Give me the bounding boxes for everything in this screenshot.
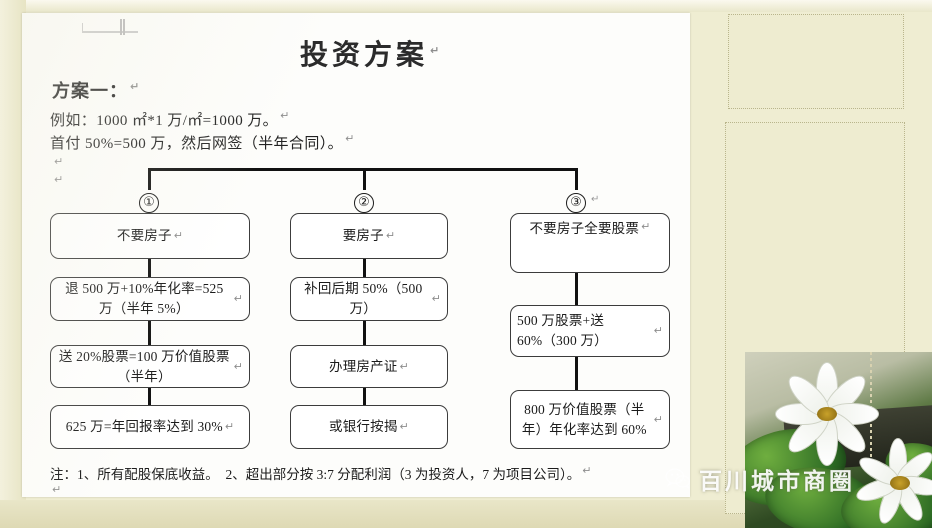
pilcrow-mark: ↵ [432, 291, 441, 307]
pilcrow-mark: ↵ [54, 155, 63, 168]
trunk-connector-drop-2 [363, 168, 366, 190]
branch-number-3: ③ [566, 193, 586, 213]
pilcrow-mark: ↵ [582, 464, 591, 477]
example-line-two: 首付 50%=500 万，然后网签（半年合同）。↵ [50, 132, 355, 153]
pilcrow-mark: ↵ [234, 359, 243, 375]
flow-box-label: 送 20%股票=100 万价值股票（半年） [57, 347, 232, 386]
screenshot-stage: 投资方案↵ 方案一：↵ 例如：1000 ㎡*1 万/㎡=1000 万。↵ 首付 … [0, 0, 932, 528]
watermark: 百川城市商圈 [665, 462, 855, 496]
page-corner-mark [82, 23, 138, 33]
pilcrow-mark: ↵ [641, 219, 650, 235]
flow-box-branch3-step3[interactable]: 800 万价值股票（半年）年化率达到 60%↵ [510, 390, 670, 449]
page-title-text: 投资方案 [300, 40, 428, 71]
flow-box-label: 不要房子 [117, 226, 172, 246]
flow-box-label: 要房子 [343, 226, 384, 246]
flow-box-branch2-step3[interactable]: 办理房产证↵ [290, 345, 448, 388]
flow-box-label: 补回后期 50%（500 万） [297, 279, 430, 318]
page-corner-mark-secondary [120, 19, 125, 35]
flow-box-branch3-step1[interactable]: 不要房子全要股票↵ [510, 213, 670, 273]
pilcrow-mark: ↵ [430, 44, 443, 57]
plan-label-text: 方案一： [52, 81, 128, 101]
flow-box-branch1-step1[interactable]: 不要房子↵ [50, 213, 250, 259]
flow-box-branch1-step4[interactable]: 625 万=年回报率达到 30%↵ [50, 405, 250, 449]
lotus-flower [779, 366, 875, 462]
flow-box-branch2-step2[interactable]: 补回后期 50%（500 万）↵ [290, 277, 448, 321]
link-branch2-3-4 [363, 388, 366, 405]
link-branch1-2-3 [148, 321, 151, 345]
flow-box-label: 办理房产证 [329, 357, 398, 377]
example-line-two-text: 首付 50%=500 万，然后网签（半年合同）。 [50, 136, 343, 152]
link-branch3-1-2 [575, 273, 578, 305]
flow-box-label: 退 500 万+10%年化率=525 万（半年 5%） [57, 279, 232, 318]
flow-box-branch2-step4[interactable]: 或银行按揭↵ [290, 405, 448, 449]
trunk-connector-drop-3 [575, 168, 578, 190]
pilcrow-mark: ↵ [591, 194, 599, 205]
pilcrow-mark: ↵ [386, 228, 395, 244]
background-top-band [0, 0, 932, 12]
link-branch3-2-3 [575, 357, 578, 390]
pilcrow-mark: ↵ [52, 483, 61, 496]
wechat-icon [665, 468, 691, 490]
watermark-text: 百川城市商圈 [699, 462, 855, 496]
flow-box-branch2-step1[interactable]: 要房子↵ [290, 213, 448, 259]
flow-box-label: 625 万=年回报率达到 30% [66, 417, 223, 437]
link-branch2-2-3 [363, 321, 366, 345]
example-line-one: 例如：1000 ㎡*1 万/㎡=1000 万。↵ [50, 109, 290, 130]
pilcrow-mark: ↵ [130, 80, 140, 93]
flow-box-label: 或银行按揭 [329, 417, 398, 437]
pilcrow-mark: ↵ [400, 419, 409, 435]
example-line-one-text: 例如：1000 ㎡*1 万/㎡=1000 万。 [50, 113, 278, 129]
flow-box-branch1-step3[interactable]: 送 20%股票=100 万价值股票（半年）↵ [50, 345, 250, 388]
branch-number-2: ② [354, 193, 374, 213]
link-branch1-3-4 [148, 388, 151, 405]
background-panel-upper [728, 14, 904, 109]
link-branch2-1-2 [363, 259, 366, 277]
lotus-flower [863, 448, 932, 522]
pilcrow-mark: ↵ [280, 109, 290, 122]
flow-box-branch3-step2[interactable]: 500 万股票+送 60%（300 万）↵ [510, 305, 670, 357]
pilcrow-mark: ↵ [345, 132, 355, 145]
trunk-connector-drop-1 [148, 168, 151, 190]
document-page: 投资方案↵ 方案一：↵ 例如：1000 ㎡*1 万/㎡=1000 万。↵ 首付 … [22, 13, 690, 497]
pilcrow-mark: ↵ [654, 323, 663, 339]
flow-box-branch1-step2[interactable]: 退 500 万+10%年化率=525 万（半年 5%）↵ [50, 277, 250, 321]
flow-box-label: 800 万价值股票（半年）年化率达到 60% [517, 400, 652, 439]
flow-box-label: 不要房子全要股票 [529, 219, 639, 239]
footer-note-text: 注：1、所有配股保底收益。 2、超出部分按 3:7 分配利润（3 为投资人，7 … [50, 467, 580, 482]
pilcrow-mark: ↵ [654, 412, 663, 428]
lotus-photo [745, 352, 932, 528]
page-title: 投资方案↵ [300, 33, 443, 73]
pilcrow-mark: ↵ [400, 359, 409, 375]
pilcrow-mark: ↵ [174, 228, 183, 244]
plan-label: 方案一：↵ [52, 77, 140, 103]
branch-number-1: ① [139, 193, 159, 213]
link-branch1-1-2 [148, 259, 151, 277]
pilcrow-mark: ↵ [234, 291, 243, 307]
footer-note: 注：1、所有配股保底收益。 2、超出部分按 3:7 分配利润（3 为投资人，7 … [50, 463, 680, 483]
pilcrow-mark: ↵ [225, 419, 234, 435]
pilcrow-mark: ↵ [54, 173, 63, 186]
flow-box-label: 500 万股票+送 60%（300 万） [517, 311, 652, 350]
